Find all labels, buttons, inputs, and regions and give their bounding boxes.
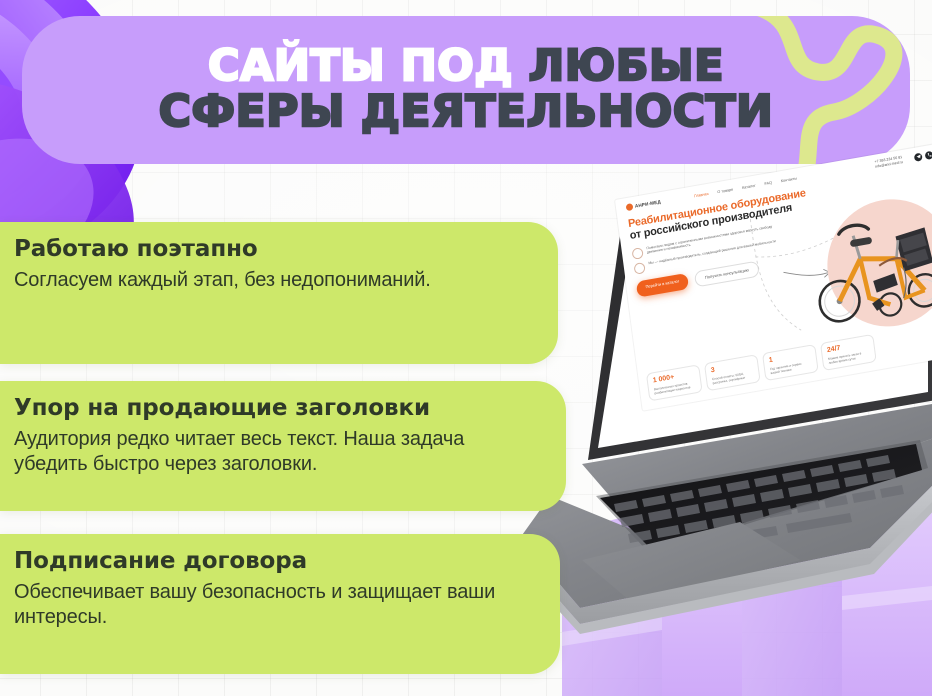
header-banner: Сайты под любые Сферы деятельности <box>22 16 910 164</box>
feature-card-title: Подписание договора <box>14 548 530 574</box>
banner-line-1: Сайты под любые <box>208 45 724 89</box>
feature-card: Работаю поэтапно Согласуем каждый этап, … <box>0 222 558 364</box>
banner-line-2: Сферы деятельности <box>159 90 774 135</box>
poster-canvas: Сайты под любые Сферы деятельности <box>0 0 932 696</box>
banner-line-1-dark: любые <box>529 41 724 91</box>
feature-card-body: Согласуем каждый этап, без недопониманий… <box>14 268 528 293</box>
feature-card-body: Обеспечивает вашу безопасность и защищае… <box>14 580 530 630</box>
feature-card-title: Упор на продающие заголовки <box>14 395 536 421</box>
banner-line-1-white: Сайты под <box>208 41 513 91</box>
feature-card-title: Работаю поэтапно <box>14 236 528 262</box>
feature-card: Подписание договора Обеспечивает вашу бе… <box>0 534 560 674</box>
feature-card-body: Аудитория редко читает весь текст. Наша … <box>14 427 536 477</box>
feature-card: Упор на продающие заголовки Аудитория ре… <box>0 381 566 511</box>
